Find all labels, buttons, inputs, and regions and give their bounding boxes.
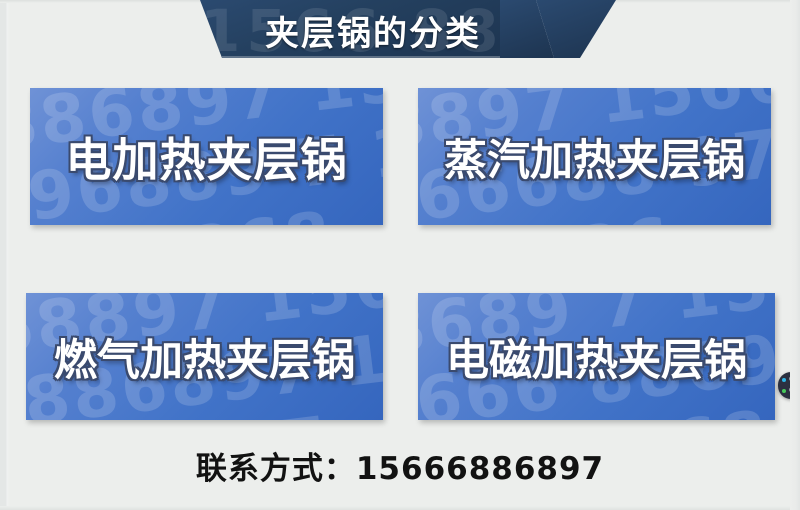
category-card-gas-heating[interactable]: 68897 156 66886897 15 6688 86897 897 156… xyxy=(26,293,383,420)
card-label: 电磁加热夹层锅 xyxy=(446,326,747,388)
network-speed-widget[interactable]: 0.1K/s 0.6K/s xyxy=(778,372,800,399)
slide-page: 1566 886897 1566 夹层锅的分类 886897 1566 8896… xyxy=(0,0,800,510)
download-speed-text: 0.1K/s xyxy=(789,375,800,385)
card-label: 燃气加热夹层锅 xyxy=(54,326,355,388)
category-card-steam-heating[interactable]: 8897 156668 1566688 97 15666 886 8897 15… xyxy=(418,88,771,225)
download-indicator-icon xyxy=(782,378,786,382)
upload-speed-text: 0.6K/s xyxy=(789,386,800,396)
page-bottom-edge xyxy=(0,506,800,510)
network-speed-row-upload: 0.6K/s xyxy=(782,386,800,396)
contact-phone: 15666886897 xyxy=(356,451,604,487)
category-card-induction-heating[interactable]: 8689 7 1566886 15666 88697 6897 156668 8… xyxy=(418,293,775,420)
upload-indicator-icon xyxy=(782,389,786,393)
card-label: 蒸汽加热夹层锅 xyxy=(444,126,745,188)
title-banner: 1566 886897 1566 夹层锅的分类 xyxy=(200,0,600,60)
card-label: 电加热夹层锅 xyxy=(66,124,348,190)
contact-label: 联系方式： xyxy=(196,451,356,487)
page-title: 夹层锅的分类 xyxy=(248,6,498,54)
contact-line: 联系方式：15666886897 xyxy=(0,443,800,488)
network-speed-row-download: 0.1K/s xyxy=(782,375,800,385)
category-card-electric-heating[interactable]: 886897 1566 8896889 7 15 15666 8868 8897… xyxy=(30,88,383,225)
